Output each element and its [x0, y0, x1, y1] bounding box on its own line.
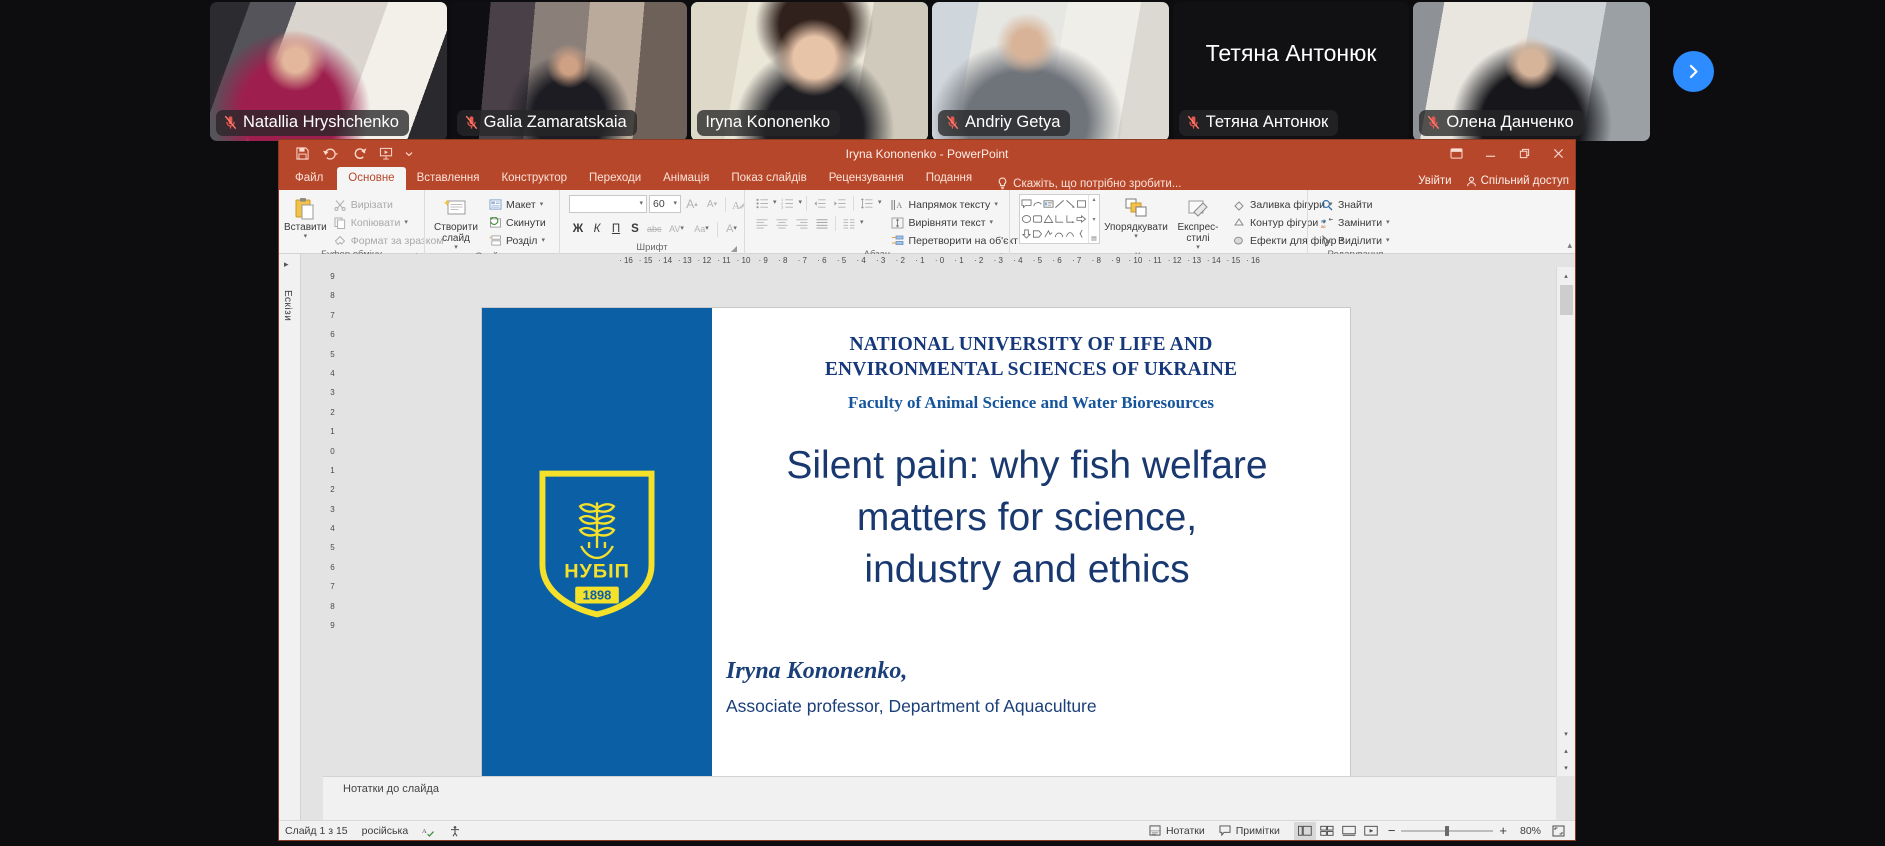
- slide-sidebar: НУБІП 1898: [482, 308, 712, 799]
- language-indicator[interactable]: російська: [362, 825, 409, 837]
- arrange-icon: [1123, 196, 1149, 221]
- ruler-tick: · 10: [734, 256, 754, 265]
- decrease-indent-icon: [813, 198, 827, 209]
- ruler-tick: · 9: [753, 256, 773, 265]
- participant-filmstrip: Natallia Hryshchenko Galia Zamaratskaia …: [210, 2, 1650, 141]
- horizontal-ruler-ticks: · 16· 15· 14· 13· 12· 11· 10· 9· 8· 7· 6…: [323, 254, 1556, 267]
- next-slide-icon[interactable]: ▾: [1557, 759, 1576, 776]
- ribbon: Вставити ▾ Вирізати Копіювати: [279, 190, 1575, 254]
- tab-home[interactable]: Основне: [337, 167, 405, 190]
- close-icon[interactable]: [1541, 140, 1575, 167]
- layout-icon: [488, 198, 502, 212]
- scrollbar-thumb[interactable]: [1560, 285, 1573, 315]
- ruler-tick: 3: [330, 500, 334, 519]
- ruler-tick: · 6: [1047, 256, 1067, 265]
- fit-to-window-button[interactable]: [1547, 822, 1569, 840]
- tab-review[interactable]: Рецензування: [818, 167, 915, 190]
- participant-name-badge: Andriy Getya: [938, 110, 1070, 136]
- align-left-icon: [755, 218, 769, 229]
- strikethrough-button[interactable]: abc: [645, 220, 664, 238]
- chevron-down-icon[interactable]: ▾: [541, 238, 545, 244]
- participant-tile[interactable]: Andriy Getya: [932, 2, 1169, 141]
- chevron-down-icon[interactable]: ▾: [639, 201, 643, 207]
- undo-icon[interactable]: [316, 143, 346, 165]
- scroll-down-icon[interactable]: ▾: [1092, 216, 1095, 223]
- scroll-up-icon[interactable]: ▴: [1557, 267, 1576, 284]
- comments-icon: [1219, 825, 1231, 836]
- font-color-label: A: [726, 223, 733, 235]
- status-bar: Слайд 1 з 15 російська A Нотатки Примітк…: [279, 820, 1575, 840]
- ruler-tick: · 5: [1028, 256, 1048, 265]
- chevron-down-icon[interactable]: ▾: [799, 200, 803, 206]
- bold-label: Ж: [573, 223, 583, 235]
- slides-small-buttons: Макет ▾ Скинути Розділ ▾: [485, 194, 549, 249]
- ruler-tick: 0: [330, 442, 334, 461]
- shape-triangle-icon[interactable]: [1043, 212, 1054, 227]
- shape-effects-icon: [1232, 234, 1246, 248]
- collapse-ribbon-button[interactable]: ▴: [1567, 240, 1572, 251]
- ruler-tick: · 7: [1067, 256, 1087, 265]
- scissors-icon: [333, 198, 347, 212]
- previous-slide-icon[interactable]: ▴: [1557, 742, 1576, 759]
- italic-label: К: [594, 223, 601, 235]
- layout-button[interactable]: Макет ▾: [485, 196, 549, 213]
- line-spacing-button[interactable]: [858, 194, 876, 212]
- vertical-ruler: 9876543210123456789: [326, 267, 339, 776]
- section-label: Розділ: [506, 235, 537, 247]
- person-icon: [1466, 176, 1477, 187]
- slide-university-name: NATIONAL UNIVERSITY OF LIFE AND ENVIRONM…: [712, 332, 1350, 382]
- new-slide-button[interactable]: Створити слайд ▾: [430, 194, 482, 251]
- shape-callout-icon[interactable]: [1021, 197, 1032, 212]
- shape-rounded-rect-icon[interactable]: [1032, 212, 1043, 227]
- ruler-tick: · 15: [1224, 256, 1244, 265]
- participant-tile[interactable]: Тетяна Антонюк Тетяна Антонюк: [1173, 2, 1410, 141]
- bold-button[interactable]: Ж: [569, 220, 587, 238]
- participant-name-badge: Олена Данченко: [1419, 110, 1583, 136]
- smartart-icon: [891, 234, 905, 248]
- zoom-slider-thumb[interactable]: [1445, 826, 1449, 836]
- chevron-down-icon[interactable]: ▾: [878, 200, 882, 206]
- slide-title-line-2: matters for science,: [718, 492, 1336, 544]
- numbered-list-icon: 123: [781, 198, 794, 209]
- participant-name-badge: Iryna Kononenko: [697, 110, 840, 136]
- ruler-tick: 2: [330, 480, 334, 499]
- character-spacing-button[interactable]: AV ▾: [665, 220, 689, 238]
- shape-rectangle-icon[interactable]: [1076, 197, 1087, 212]
- ruler-tick: 4: [330, 364, 334, 383]
- ruler-tick: · 1: [910, 256, 930, 265]
- ruler-tick: · 9: [1106, 256, 1126, 265]
- svg-text:ab: ab: [1321, 218, 1327, 223]
- ruler-tick: · 3: [871, 256, 891, 265]
- comments-toggle-button[interactable]: Примітки: [1219, 825, 1280, 837]
- notes-icon: [1149, 825, 1161, 836]
- participant-name-badge: Galia Zamaratskaia: [457, 110, 637, 136]
- font-color-button[interactable]: A ▾: [721, 220, 743, 238]
- format-painter-icon: [333, 234, 347, 248]
- zoom-level-label[interactable]: 80%: [1513, 825, 1541, 837]
- arrange-label: Упорядкувати: [1104, 222, 1168, 233]
- lightbulb-icon: [997, 177, 1008, 190]
- chevron-down-icon[interactable]: ▾: [773, 200, 777, 206]
- ruler-tick: 7: [330, 306, 334, 325]
- restore-icon[interactable]: [1507, 140, 1541, 167]
- tab-transitions[interactable]: Переходи: [578, 167, 652, 190]
- muted-mic-icon: [1427, 115, 1440, 130]
- line-spacing-icon: [860, 198, 874, 209]
- paste-icon: [292, 196, 318, 221]
- shape-curve-icon[interactable]: [1032, 197, 1043, 212]
- ruler-tick: 5: [330, 538, 334, 557]
- ruler-tick: · 15: [636, 256, 656, 265]
- ruler-tick: · 6: [812, 256, 832, 265]
- paste-button[interactable]: Вставити ▾: [284, 194, 327, 240]
- ruler-tick: · 0: [930, 256, 950, 265]
- slide-canvas[interactable]: НУБІП 1898 NATIONAL UNIVERSITY OF LIFE A…: [482, 308, 1350, 799]
- slide-author: Iryna Kononenko,: [726, 658, 907, 685]
- ruler-tick: · 7: [793, 256, 813, 265]
- ruler-tick: · 2: [891, 256, 911, 265]
- shape-block-arrow-icon[interactable]: [1076, 212, 1087, 227]
- fit-to-window-icon: [1552, 825, 1565, 837]
- align-text-icon: [891, 216, 905, 230]
- font-size-input[interactable]: 60 ▾: [649, 195, 681, 213]
- section-button[interactable]: Розділ ▾: [485, 232, 549, 249]
- muted-mic-icon: [465, 115, 478, 130]
- ribbon-group-slides: Створити слайд ▾ Макет ▾: [424, 190, 559, 254]
- shape-down-arrow-icon[interactable]: [1021, 226, 1032, 241]
- window-controls: [1439, 140, 1575, 167]
- slide-title-line-1: Silent pain: why fish welfare: [718, 440, 1336, 492]
- scroll-down-icon[interactable]: ▾: [1557, 725, 1576, 742]
- sign-in-link[interactable]: Увійти: [1418, 175, 1451, 187]
- tab-animations[interactable]: Анімація: [652, 167, 720, 190]
- chevron-down-icon[interactable]: ▾: [540, 202, 544, 208]
- zoom-slider[interactable]: [1401, 830, 1493, 832]
- ruler-tick: · 12: [1165, 256, 1185, 265]
- university-line-1: NATIONAL UNIVERSITY OF LIFE AND: [712, 332, 1350, 357]
- bullets-button[interactable]: [753, 194, 771, 212]
- underline-button[interactable]: П: [607, 220, 625, 238]
- chevron-down-icon[interactable]: ▾: [673, 201, 677, 207]
- scroll-up-icon[interactable]: ▴: [1092, 196, 1095, 203]
- shape-brace-icon[interactable]: [1076, 226, 1087, 241]
- ruler-tick: 8: [330, 286, 334, 305]
- decrease-indent-button[interactable]: [811, 194, 829, 212]
- divider: [725, 197, 726, 212]
- ruler-tick: · 8: [773, 256, 793, 265]
- ruler-tick: · 8: [1086, 256, 1106, 265]
- participant-display-name: Тетяна Антонюк: [1173, 40, 1410, 67]
- editor-work-area: ▸ Ескізи · 16· 15· 14· 13· 12· 11· 10· 9…: [279, 254, 1575, 820]
- shadow-label: S: [631, 223, 639, 235]
- ruler-tick: · 11: [714, 256, 734, 265]
- slide-title-line-3: industry and ethics: [718, 544, 1336, 596]
- align-left-button[interactable]: [753, 214, 771, 232]
- slide-counter-text: Слайд 1 з 15: [285, 825, 348, 837]
- select-label: Виділити: [1338, 235, 1382, 247]
- shapes-more-icon[interactable]: ▤: [1091, 235, 1097, 242]
- muted-mic-icon: [1187, 115, 1200, 130]
- reset-label: Скинути: [506, 217, 546, 229]
- find-label: Знайти: [1338, 199, 1373, 211]
- participant-name: Тетяна Антонюк: [1206, 113, 1329, 132]
- font-name-input[interactable]: ▾: [569, 195, 647, 213]
- window-title: Iryna Kononenko - PowerPoint: [279, 147, 1575, 161]
- participant-tile[interactable]: Олена Данченко: [1413, 2, 1650, 141]
- ribbon-display-options-icon[interactable]: [1439, 140, 1473, 167]
- participant-name: Galia Zamaratskaia: [484, 113, 627, 132]
- chevron-right-icon: [1686, 64, 1701, 79]
- chevron-down-icon[interactable]: ▾: [1134, 234, 1138, 240]
- italic-button[interactable]: К: [588, 220, 606, 238]
- shape-line-icon[interactable]: [1054, 197, 1065, 212]
- ribbon-group-paragraph: ▾ 123 ▾ ▾: [744, 190, 1009, 254]
- expand-thumbnails-icon[interactable]: ▸: [284, 259, 289, 270]
- accessibility-icon: [449, 825, 461, 837]
- tell-me-placeholder: Скажіть, що потрібно зробити...: [1013, 178, 1181, 190]
- next-participants-button[interactable]: [1673, 51, 1714, 92]
- align-right-icon: [795, 218, 809, 229]
- chevron-down-icon[interactable]: ▾: [860, 220, 864, 226]
- shrink-font-label: A: [707, 199, 714, 210]
- ruler-tick: · 11: [1145, 256, 1165, 265]
- ribbon-tab-bar: Файл Основне Вставлення Конструктор Пере…: [279, 167, 1575, 190]
- participant-name-badge: Natallia Hryshchenko: [216, 110, 409, 136]
- divider: [717, 222, 718, 237]
- text-direction-icon: A: [891, 198, 905, 212]
- strike-label: abc: [647, 224, 662, 234]
- ruler-tick: 1: [330, 422, 334, 441]
- slide-content: NATIONAL UNIVERSITY OF LIFE AND ENVIRONM…: [712, 308, 1350, 799]
- minimize-icon[interactable]: [1473, 140, 1507, 167]
- slide-sorter-view-button[interactable]: [1316, 822, 1338, 840]
- participant-tile[interactable]: Natallia Hryshchenko: [210, 2, 447, 141]
- powerpoint-window: Iryna Kononenko - PowerPoint Файл Основн…: [279, 140, 1575, 840]
- chevron-down-icon[interactable]: ▾: [705, 226, 709, 232]
- layout-label: Макет: [506, 199, 536, 211]
- crest-year: 1898: [583, 588, 612, 603]
- svg-text:ac: ac: [1321, 224, 1327, 229]
- reading-view-button[interactable]: [1338, 822, 1360, 840]
- language-text: російська: [362, 825, 409, 837]
- shape-outline-icon: [1232, 216, 1246, 230]
- columns-button[interactable]: [840, 214, 858, 232]
- copy-icon: [333, 216, 347, 230]
- slide-author-role: Associate professor, Department of Aquac…: [726, 696, 1097, 717]
- university-crest-logo: НУБІП 1898: [538, 468, 657, 620]
- participant-name: Natallia Hryshchenko: [243, 113, 399, 132]
- slide-editing-stage: · 16· 15· 14· 13· 12· 11· 10· 9· 8· 7· 6…: [301, 254, 1575, 820]
- slide-title[interactable]: Silent pain: why fish welfare matters fo…: [718, 440, 1336, 596]
- shape-textbox-icon[interactable]: [1043, 197, 1054, 212]
- select-button[interactable]: Виділити ▾: [1317, 232, 1393, 249]
- spellcheck-button[interactable]: A: [422, 825, 435, 837]
- justify-icon: [815, 218, 829, 229]
- align-right-button[interactable]: [793, 214, 811, 232]
- font-size-value: 60: [653, 198, 665, 210]
- justify-button[interactable]: [813, 214, 831, 232]
- ruler-tick: 3: [330, 383, 334, 402]
- reading-view-icon: [1342, 825, 1356, 837]
- font-group-label: Шрифт ◢: [565, 242, 739, 254]
- shape-fill-icon: [1232, 198, 1246, 212]
- cut-label: Вирізати: [351, 199, 393, 211]
- text-shadow-button[interactable]: S: [626, 220, 644, 238]
- font-row-primary: ▾ 60 ▾ A▴ A▾ A: [569, 194, 748, 214]
- tab-view[interactable]: Подання: [915, 167, 983, 190]
- participant-name: Олена Данченко: [1446, 113, 1573, 132]
- notes-toggle-button[interactable]: Нотатки: [1149, 825, 1205, 837]
- university-line-2: ENVIRONMENTAL SCIENCES OF UKRAINE: [712, 357, 1350, 382]
- change-case-button[interactable]: Aa ▾: [690, 220, 714, 238]
- arrange-button[interactable]: Упорядкувати ▾: [1105, 194, 1167, 240]
- normal-view-button[interactable]: [1294, 822, 1316, 840]
- shape-elbow-arrow-icon[interactable]: [1065, 212, 1076, 227]
- quick-access-toolbar: [279, 143, 418, 165]
- ruler-tick: · 16: [616, 256, 636, 265]
- shape-arc-icon[interactable]: [1054, 226, 1065, 241]
- slideshow-icon: [1364, 825, 1378, 837]
- ruler-tick: · 1: [949, 256, 969, 265]
- font-row-secondary: Ж К П S abc AV ▾ Aa ▾ A: [569, 219, 743, 239]
- ruler-tick: · 16: [1243, 256, 1263, 265]
- select-icon: [1320, 234, 1334, 248]
- participant-name: Iryna Kononenko: [705, 113, 830, 132]
- slideshow-view-button[interactable]: [1360, 822, 1382, 840]
- ribbon-group-clipboard: Вставити ▾ Вирізати Копіювати: [279, 190, 424, 254]
- participant-tile-active-speaker[interactable]: Iryna Kononenko: [691, 2, 928, 141]
- replace-icon: abac: [1320, 216, 1334, 230]
- font-group-label-text: Шрифт: [636, 242, 667, 253]
- case-label: Aa: [694, 224, 705, 234]
- paste-label: Вставити: [284, 222, 327, 233]
- chevron-down-icon[interactable]: ▾: [304, 234, 308, 240]
- svg-text:A: A: [732, 200, 740, 211]
- zoom-control[interactable]: − +: [1388, 823, 1507, 838]
- ruler-tick: · 4: [851, 256, 871, 265]
- normal-view-icon: [1298, 825, 1312, 837]
- ruler-tick: 5: [330, 345, 334, 364]
- columns-icon: [842, 218, 856, 229]
- shapes-grid: [1020, 195, 1088, 243]
- ruler-tick: · 5: [832, 256, 852, 265]
- shape-arrow-icon[interactable]: [1065, 197, 1076, 212]
- ruler-tick: · 13: [1184, 256, 1204, 265]
- ruler-tick: 1: [330, 461, 334, 480]
- replace-label: Замінити: [1338, 217, 1382, 229]
- ruler-tick: · 14: [1204, 256, 1224, 265]
- shape-freeform-icon[interactable]: [1043, 226, 1054, 241]
- chevron-down-icon[interactable]: ▾: [994, 202, 998, 208]
- chevron-down-icon[interactable]: ▾: [1386, 220, 1390, 226]
- participant-name-badge: Тетяна Антонюк: [1179, 110, 1339, 136]
- start-presentation-icon[interactable]: [374, 143, 398, 165]
- ruler-tick: 9: [330, 616, 334, 635]
- shape-arc2-icon[interactable]: [1065, 226, 1076, 241]
- align-center-button[interactable]: [773, 214, 791, 232]
- save-icon[interactable]: [290, 143, 314, 165]
- tab-insert[interactable]: Вставлення: [406, 167, 491, 190]
- chevron-down-icon[interactable]: ▾: [404, 220, 408, 226]
- zoom-out-button[interactable]: −: [1388, 823, 1396, 838]
- shape-oval-icon[interactable]: [1021, 212, 1032, 227]
- tab-file[interactable]: Файл: [279, 167, 337, 190]
- find-button[interactable]: Знайти: [1317, 196, 1393, 213]
- ribbon-group-editing: Знайти abac Замінити ▾ Виділити: [1307, 190, 1403, 254]
- text-direction-label: Напрямок тексту: [909, 199, 991, 211]
- chevron-down-icon[interactable]: ▾: [990, 220, 994, 226]
- increase-font-size-button[interactable]: A▴: [683, 195, 701, 213]
- quick-styles-button[interactable]: Експрес-стилі ▾: [1172, 194, 1224, 251]
- editing-buttons: Знайти abac Замінити ▾ Виділити: [1317, 194, 1393, 249]
- decrease-font-size-button[interactable]: A▾: [703, 195, 721, 213]
- chevron-down-icon[interactable]: ▾: [680, 226, 684, 232]
- quick-styles-icon: [1185, 196, 1211, 221]
- vertical-scrollbar[interactable]: ▴ ▾ ▴ ▾: [1556, 267, 1575, 776]
- muted-mic-icon: [224, 115, 237, 130]
- chevron-down-icon[interactable]: ▾: [733, 226, 737, 232]
- divider: [806, 196, 807, 211]
- chevron-down-icon[interactable]: ▾: [1386, 238, 1390, 244]
- reset-icon: [488, 216, 502, 230]
- grow-font-label: A: [686, 197, 694, 211]
- ribbon-group-drawing: ▴ ▾ ▤ Упорядкувати ▾ Експре: [1009, 190, 1307, 254]
- copy-label: Копіювати: [351, 217, 401, 229]
- vertical-ruler-ticks: 9876543210123456789: [326, 267, 339, 776]
- tab-design[interactable]: Конструктор: [490, 167, 578, 190]
- numbering-button[interactable]: 123: [779, 194, 797, 212]
- ruler-tick: · 10: [1126, 256, 1146, 265]
- ruler-tick: 4: [330, 519, 334, 538]
- new-slide-icon: [443, 196, 469, 221]
- accessibility-checker-button[interactable]: [449, 825, 461, 837]
- notes-pane[interactable]: Нотатки до слайда: [323, 776, 1556, 820]
- replace-button[interactable]: abac Замінити ▾: [1317, 214, 1393, 231]
- svg-text:A: A: [422, 827, 427, 834]
- comments-button-label: Примітки: [1236, 825, 1280, 837]
- spacing-label: AV: [669, 224, 680, 234]
- slide-counter[interactable]: Слайд 1 з 15: [285, 825, 348, 837]
- account-actions: Увійти Спільний доступ: [1418, 175, 1569, 187]
- title-bar: Iryna Kononenko - PowerPoint: [279, 140, 1575, 167]
- increase-indent-button[interactable]: [831, 194, 849, 212]
- shape-pentagon-icon[interactable]: [1032, 226, 1043, 241]
- tell-me-search[interactable]: Скажіть, що потрібно зробити...: [983, 177, 1181, 190]
- share-button[interactable]: Спільний доступ: [1466, 175, 1569, 187]
- participant-tile[interactable]: Galia Zamaratskaia: [451, 2, 688, 141]
- ruler-tick: 2: [330, 403, 334, 422]
- ruler-tick: · 4: [1008, 256, 1028, 265]
- thumbnail-pane-collapsed[interactable]: ▸ Ескізи: [279, 254, 301, 820]
- shapes-scrollbar[interactable]: ▴ ▾ ▤: [1088, 195, 1099, 243]
- quick-styles-label: Експрес-стилі: [1171, 222, 1225, 244]
- shapes-gallery[interactable]: ▴ ▾ ▤: [1019, 194, 1100, 244]
- shape-elbow-connector-icon[interactable]: [1054, 212, 1065, 227]
- ruler-tick: · 3: [988, 256, 1008, 265]
- zoom-in-button[interactable]: +: [1499, 823, 1507, 838]
- ruler-tick: 8: [330, 597, 334, 616]
- ruler-tick: · 14: [655, 256, 675, 265]
- chevron-down-icon[interactable]: [400, 143, 418, 165]
- divider: [835, 216, 836, 231]
- reset-button[interactable]: Скинути: [485, 214, 549, 231]
- ruler-tick: 9: [330, 267, 334, 286]
- search-icon: [1320, 198, 1334, 212]
- redo-icon[interactable]: [348, 143, 372, 165]
- tab-slideshow[interactable]: Показ слайдів: [720, 167, 817, 190]
